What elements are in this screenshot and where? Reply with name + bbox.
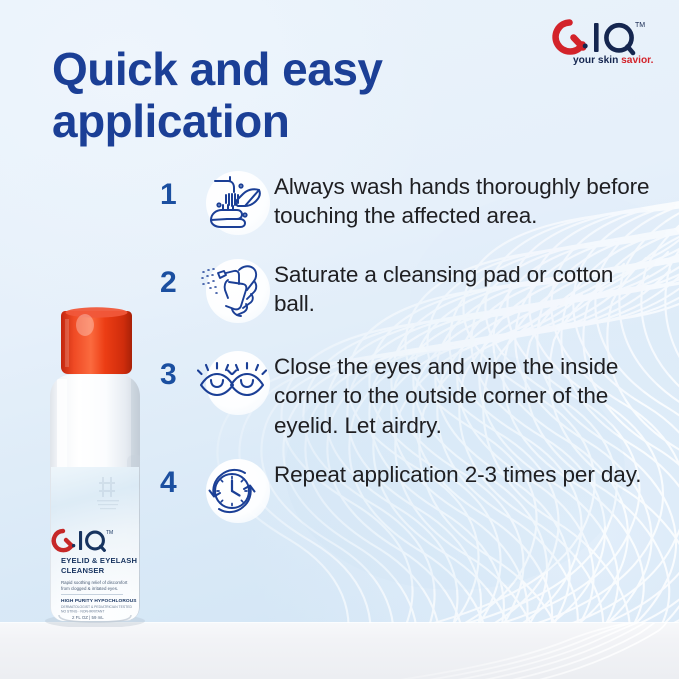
- product-bottle: TM EYELID & EYELASH CLEANSER Rapid sooth…: [35, 305, 157, 627]
- logo-tagline-part1: your skin: [573, 55, 621, 66]
- logo-letter-i: [594, 23, 599, 52]
- hand-spray-bottle-icon: [190, 254, 274, 328]
- clock-repeat-icon: [190, 454, 274, 528]
- washing-hands-icon: [190, 166, 274, 240]
- logo-trademark: TM: [635, 22, 645, 29]
- bottle-cap: [61, 307, 132, 374]
- step-text-3: Close the eyes and wipe the inside corne…: [274, 346, 660, 440]
- headline-line-1: Quick and easy: [52, 44, 492, 96]
- step-number-4: 4: [160, 454, 190, 498]
- steps-list: 1: [160, 166, 660, 538]
- label-subclaim-2: NO STING · NON-IRRITANT: [61, 610, 104, 614]
- label-subclaim-1: DERMATOLOGIST & PEDIATRICIAN TESTED: [61, 605, 132, 609]
- surface-wave-texture: [0, 623, 679, 679]
- step-number-1: 1: [160, 166, 190, 210]
- label-volume: 2 FL OZ | 59 mL: [72, 615, 104, 620]
- closed-eyes-icon: [190, 346, 274, 420]
- step-item-3: 3: [160, 346, 660, 440]
- step-text-4: Repeat application 2-3 times per day.: [274, 454, 660, 489]
- logo-letter-q: [606, 25, 633, 53]
- label-product-name-1: EYELID & EYELASH: [61, 556, 137, 565]
- label-claim: HIGH PURITY HYPOCHLOROUS: [61, 598, 137, 604]
- q-swoosh-icon: [556, 23, 588, 52]
- step-text-2: Saturate a cleansing pad or cotton ball.: [274, 254, 660, 319]
- page-title: Quick and easy application: [52, 44, 492, 147]
- brand-logo: TM your skin savior.: [549, 17, 657, 67]
- step-number-2: 2: [160, 254, 190, 298]
- label-trademark: TM: [106, 530, 113, 536]
- step-text-1: Always wash hands thoroughly before touc…: [274, 166, 660, 231]
- step-item-2: 2: [160, 254, 660, 328]
- step-item-1: 1: [160, 166, 660, 240]
- headline-line-2: application: [52, 96, 492, 148]
- logo-tagline-part2: savior.: [621, 55, 653, 66]
- step-number-3: 3: [160, 346, 190, 390]
- label-product-name-2: CLEANSER: [61, 566, 105, 575]
- bottle-label: TM EYELID & EYELASH CLEANSER Rapid sooth…: [51, 467, 139, 620]
- svg-text:your skin savior.: your skin savior.: [573, 55, 654, 66]
- label-description-1: Rapid soothing relief of discomfort: [61, 580, 128, 585]
- step-item-4: 4: [160, 454, 660, 528]
- poster-canvas: TM your skin savior. Quick and easy appl…: [0, 0, 679, 679]
- label-description-2: from clogged & irritated eyes.: [61, 586, 118, 591]
- label-divider: [61, 594, 123, 595]
